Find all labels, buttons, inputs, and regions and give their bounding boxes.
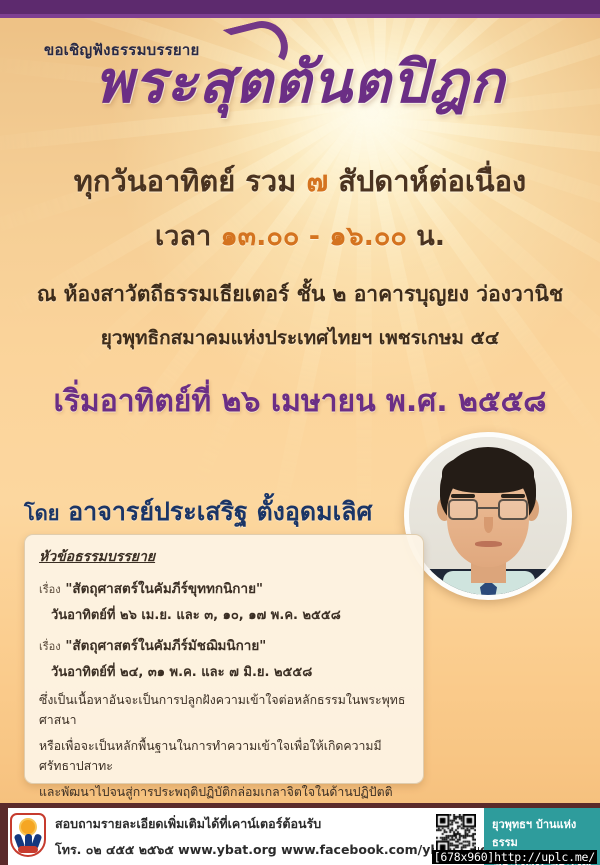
description-line-1: ซึ่งเป็นเนื้อหาอันจะเป็นการปลูกฝังความเข… <box>39 691 409 731</box>
time-label: เวลา <box>155 221 221 252</box>
page-title: พระสุตตันตปิฎก <box>0 52 600 113</box>
speaker-by-label: โดย <box>24 501 59 525</box>
time-line: เวลา ๑๓.๐๐ - ๑๖.๐๐ น. <box>0 214 600 257</box>
organization-line: ยุวพุทธิกสมาคมแห่งประเทศไทยฯ เพชรเกษม ๕๔ <box>0 323 600 353</box>
topic-2-title: "สัตถุศาสตร์ในคัมภีร์มัชฌิมนิกาย" <box>65 638 266 654</box>
footer-contact: สอบถามรายละเอียดเพิ่มเติมได้ที่เคาน์เตอร… <box>55 814 489 860</box>
details-heading: หัวข้อธรรมบรรยาย <box>39 546 409 568</box>
start-date-line: เริ่มอาทิตย์ที่ ๒๖ เมษายน พ.ศ. ๒๕๕๘ <box>0 378 600 425</box>
details-box: หัวข้อธรรมบรรยาย เรื่อง "สัตถุศาสตร์ในคั… <box>24 534 424 784</box>
topic-2: เรื่อง "สัตถุศาสตร์ในคัมภีร์มัชฌิมนิกาย" <box>39 634 409 656</box>
weekly-suffix: สัปดาห์ต่อเนื่อง <box>328 164 526 198</box>
time-unit: น. <box>407 221 445 252</box>
speaker-name: อาจารย์ประเสริฐ ตั้งอุดมเลิศ <box>68 497 372 526</box>
tagline-line1: ยุวพุทธฯ บ้านแห่งธรรม <box>492 815 594 851</box>
time-end: ๑๖.๐๐ <box>329 221 407 252</box>
weekly-schedule-line: ทุกวันอาทิตย์ รวม ๗ สัปดาห์ต่อเนื่อง <box>0 158 600 204</box>
time-dash: - <box>299 221 329 252</box>
image-watermark: [678x960]http://uplc.me/ <box>432 850 597 864</box>
topic-1: เรื่อง "สัตถุศาสตร์ในคัมภีร์ขุททกนิกาย" <box>39 577 409 599</box>
footer-contact-line2[interactable]: โทร. ๐๒ ๔๕๕ ๒๕๖๕ www.ybat.org www.facebo… <box>55 840 489 860</box>
poster-canvas: ขอเชิญฟังธรรมบรรยาย พระสุตตันตปิฎก ทุกวั… <box>0 0 600 865</box>
venue-line: ณ ห้องสาวัตถีธรรมเธียเตอร์ ชั้น ๒ อาคารบ… <box>0 278 600 311</box>
description-line-2: หรือเพื่อจะเป็นหลักพื้นฐานในการทำความเข้… <box>39 737 409 777</box>
topic-2-dates: วันอาทิตย์ที่ ๒๔, ๓๑ พ.ค. และ ๗ มิ.ย. ๒๕… <box>51 661 409 682</box>
speaker-line: โดย อาจารย์ประเสริฐ ตั้งอุดมเลิศ <box>24 492 372 532</box>
weekly-prefix: ทุกวันอาทิตย์ รวม <box>74 164 307 198</box>
footer-contact-line1: สอบถามรายละเอียดเพิ่มเติมได้ที่เคาน์เตอร… <box>55 814 489 834</box>
portrait-illustration <box>409 437 567 595</box>
time-start: ๑๓.๐๐ <box>221 221 300 252</box>
topic-2-label: เรื่อง <box>39 640 61 653</box>
ybat-shield-logo-icon <box>10 813 46 857</box>
footer-left-accent <box>0 808 8 865</box>
poster-content: ขอเชิญฟังธรรมบรรยาย พระสุตตันตปิฎก ทุกวั… <box>0 0 600 865</box>
topic-1-dates: วันอาทิตย์ที่ ๒๖ เม.ย. และ ๓, ๑๐, ๑๗ พ.ค… <box>51 604 409 625</box>
speaker-portrait <box>404 432 572 600</box>
topic-1-title: "สัตถุศาสตร์ในคัมภีร์ขุททกนิกาย" <box>65 581 263 597</box>
weekly-count: ๗ <box>306 164 328 198</box>
topic-1-label: เรื่อง <box>39 583 61 596</box>
